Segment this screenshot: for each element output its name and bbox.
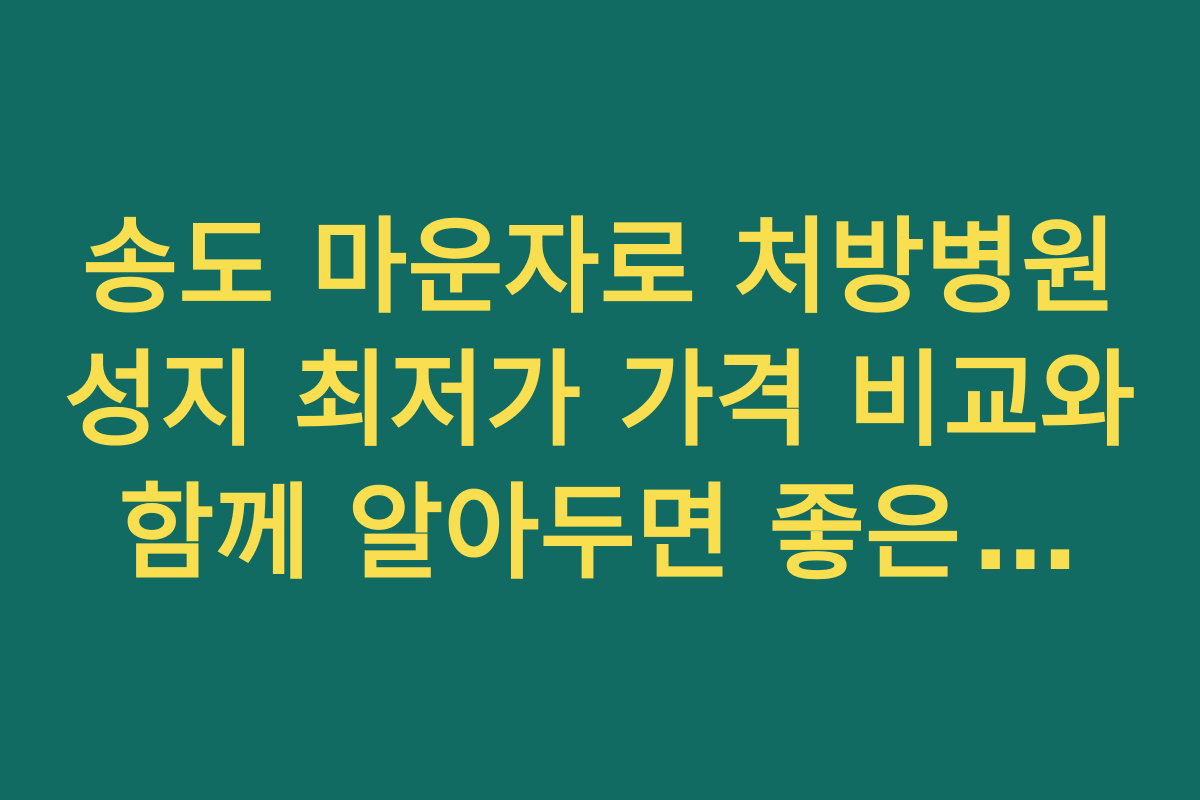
card-title-line-2: 성지 최저가 가격 비교와: [60, 334, 1140, 467]
truncation-ellipsis: …: [961, 472, 1081, 594]
card-title-block: 송도 마운자로 처방병원 성지 최저가 가격 비교와 함께 알아두면 좋은…: [50, 201, 1150, 600]
thumbnail-card: 송도 마운자로 처방병원 성지 최저가 가격 비교와 함께 알아두면 좋은…: [0, 0, 1200, 800]
card-title-line-1: 송도 마운자로 처방병원: [60, 201, 1140, 334]
card-title-line-3-text: 함께 알아두면 좋은: [119, 472, 962, 594]
card-title-line-3: 함께 알아두면 좋은…: [60, 467, 1140, 600]
